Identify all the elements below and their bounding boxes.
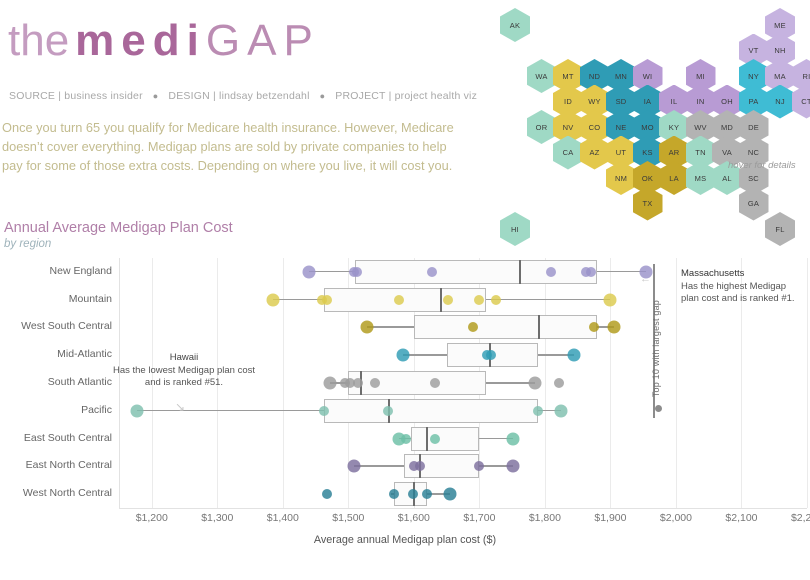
data-point[interactable] [443,295,453,305]
data-point[interactable] [323,377,336,390]
hex-state-label: OR [536,123,548,132]
hex-state-label: KY [669,123,679,132]
boxplot-row[interactable] [0,426,810,452]
hex-state-label: SC [748,174,759,183]
hover-hint-label: hover for details [728,160,796,171]
data-point[interactable] [319,406,329,416]
credits-line: SOURCE | business insider●DESIGN | linds… [9,90,477,102]
data-point[interactable] [443,488,456,501]
data-point[interactable] [430,378,440,388]
data-point[interactable] [347,460,360,473]
data-point[interactable] [131,404,144,417]
hex-state-ga[interactable]: GA [739,187,769,221]
hex-state-label: MO [641,123,653,132]
hex-state-nm[interactable]: NM [606,161,636,195]
x-axis-tick-label: $1,400 [267,512,299,524]
hex-state-label: CT [801,97,810,106]
hex-state-label: PA [749,97,759,106]
hex-state-label: WY [588,97,600,106]
hex-state-label: NC [748,148,759,157]
hex-state-label: IL [671,97,678,106]
hex-state-label: ND [589,72,600,81]
hex-state-label: IN [697,97,705,106]
data-point[interactable] [383,406,393,416]
x-axis-tick-label: $2,100 [725,512,757,524]
data-point[interactable] [427,267,437,277]
box-iqr [324,399,538,423]
hex-state-label: MT [562,72,573,81]
credits-separator-icon: ● [320,91,326,101]
hex-state-label: UT [616,148,626,157]
hex-state-label: MS [695,174,707,183]
chart-title: Annual Average Medigap Plan Cost [4,220,233,236]
brand-logo: themediGAP [8,16,320,66]
hex-state-label: AZ [590,148,600,157]
x-axis-title: Average annual Medigap plan cost ($) [0,534,810,546]
boxplot-row[interactable] [0,398,810,424]
x-axis-tick-label: $1,800 [529,512,561,524]
annotation-hawaii-body: Has the lowest Medigap plan cost and is … [113,365,255,389]
x-axis-tick-label: $1,600 [398,512,430,524]
median-line [440,288,442,312]
hex-state-or[interactable]: OR [527,110,557,144]
box-iqr [414,315,597,339]
hex-state-label: OH [721,97,733,106]
brand-gap: GAP [206,16,320,65]
data-point[interactable] [589,322,599,332]
hex-state-label: ME [774,21,786,30]
hex-state-label: NE [616,123,627,132]
hex-state-label: DE [748,123,759,132]
data-point[interactable] [303,265,316,278]
data-point[interactable] [422,489,432,499]
credit-item: DESIGN | lindsay betzendahl [168,90,309,102]
data-point[interactable] [401,434,411,444]
axis-baseline [119,508,807,509]
hex-state-label: ID [564,97,572,106]
data-point[interactable] [586,267,596,277]
hex-state-label: WV [694,123,706,132]
data-point[interactable] [322,489,332,499]
hex-state-label: NY [748,72,759,81]
annotation-hawaii-title: Hawaii [104,352,264,365]
hex-state-label: NM [615,174,627,183]
hex-state-label: CA [563,148,574,157]
data-point[interactable] [554,378,564,388]
data-point[interactable] [474,461,484,471]
credit-item: SOURCE | business insider [9,90,143,102]
chart-subtitle: by region [4,238,51,250]
data-point[interactable] [568,349,581,362]
boxplot-row[interactable] [0,481,810,507]
hex-state-label: MI [696,72,705,81]
credit-item: PROJECT | project health viz [335,90,477,102]
data-point[interactable] [360,321,373,334]
hex-state-label: FL [775,225,784,234]
hex-state-la[interactable]: LA [659,161,689,195]
hex-tile-map[interactable]: AKMEVTNHWAMTNDMNWIMINYMARIIDWYSDIAILINOH… [500,8,810,208]
hex-state-label: AK [510,21,520,30]
data-point[interactable] [507,460,520,473]
hex-state-label: MA [774,72,786,81]
x-axis-tick-label: $2,200 [791,512,810,524]
annotation-massachusetts-title: Massachusetts [681,268,806,281]
data-point[interactable] [607,321,620,334]
hex-state-label: SD [616,97,627,106]
hex-state-label: AR [669,148,680,157]
median-line [538,315,540,339]
hex-state-nj[interactable]: NJ [765,85,795,119]
hex-state-label: NJ [775,97,785,106]
data-point[interactable] [396,349,409,362]
hex-state-label: VT [749,46,759,55]
data-point[interactable] [322,295,332,305]
hex-state-wa[interactable]: WA [527,59,557,93]
intro-paragraph: Once you turn 65 you qualify for Medicar… [2,118,462,175]
median-line [519,260,521,284]
data-point[interactable] [370,378,380,388]
data-point[interactable] [486,350,496,360]
x-axis-tick-label: $1,500 [332,512,364,524]
data-point[interactable] [507,432,520,445]
hex-state-ct[interactable]: CT [792,85,810,119]
data-point[interactable] [555,404,568,417]
hex-state-label: LA [669,174,679,183]
box-iqr [355,260,597,284]
credits-separator-icon: ● [153,91,159,101]
data-point[interactable] [352,267,362,277]
data-point[interactable] [408,489,418,499]
data-point[interactable] [415,461,425,471]
brand-medi: medi [75,16,206,65]
boxplot-chart: Average annual Medigap plan cost ($) $1,… [0,258,810,580]
data-point[interactable] [604,293,617,306]
boxplot-row[interactable] [0,314,810,340]
median-line [426,427,428,451]
data-point[interactable] [266,293,279,306]
hex-state-label: VA [722,148,732,157]
hex-state-label: NH [774,46,785,55]
box-iqr [411,427,480,451]
data-point[interactable] [394,295,404,305]
hex-state-ms[interactable]: MS [686,161,716,195]
data-point[interactable] [353,378,363,388]
hex-state-label: MN [615,72,627,81]
brand-the: the [8,16,69,65]
data-point[interactable] [430,434,440,444]
x-axis-tick-label: $1,300 [201,512,233,524]
hex-state-label: HI [511,225,519,234]
data-point[interactable] [491,295,501,305]
annotation-massachusetts-arrow-icon: ← [640,273,651,285]
hex-state-label: NV [563,123,574,132]
top10-bracket-label: Top 10 with largest gap [651,300,661,397]
data-point[interactable] [389,489,399,499]
annotation-massachusetts: Massachusetts Has the highest Medigap pl… [681,268,806,306]
hex-state-label: IA [644,97,652,106]
hex-state-label: AL [722,174,732,183]
hex-state-tx[interactable]: TX [633,187,663,221]
top10-bracket-dot-icon [655,405,662,412]
annotation-hawaii-arrow-icon: ↘ [175,400,185,414]
x-axis-tick-label: $2,000 [660,512,692,524]
boxplot-row[interactable] [0,453,810,479]
x-axis-tick-label: $1,900 [594,512,626,524]
hex-state-az[interactable]: AZ [580,136,610,170]
hex-state-label: TX [643,199,653,208]
annotation-massachusetts-body: Has the highest Medigap plan cost and is… [681,281,795,305]
data-point[interactable] [474,295,484,305]
x-axis-tick-label: $1,200 [136,512,168,524]
hex-state-label: GA [748,199,759,208]
hex-state-hi[interactable]: HI [500,212,530,246]
hex-state-label: TN [695,148,705,157]
hex-state-label: WA [535,72,547,81]
data-point[interactable] [468,322,478,332]
hex-state-label: MD [721,123,733,132]
hex-state-label: OK [642,174,653,183]
hex-state-ca[interactable]: CA [553,136,583,170]
hex-state-fl[interactable]: FL [765,212,795,246]
data-point[interactable] [529,377,542,390]
x-axis-tick-label: $1,700 [463,512,495,524]
hex-state-label: CO [589,123,601,132]
hex-state-label: RI [803,72,810,81]
hex-state-ak[interactable]: AK [500,8,530,42]
hex-state-label: KS [642,148,652,157]
hex-state-label: WI [643,72,653,81]
annotation-hawaii: Hawaii Has the lowest Medigap plan cost … [104,352,264,390]
data-point[interactable] [546,267,556,277]
box-iqr [324,288,486,312]
data-point[interactable] [533,406,543,416]
